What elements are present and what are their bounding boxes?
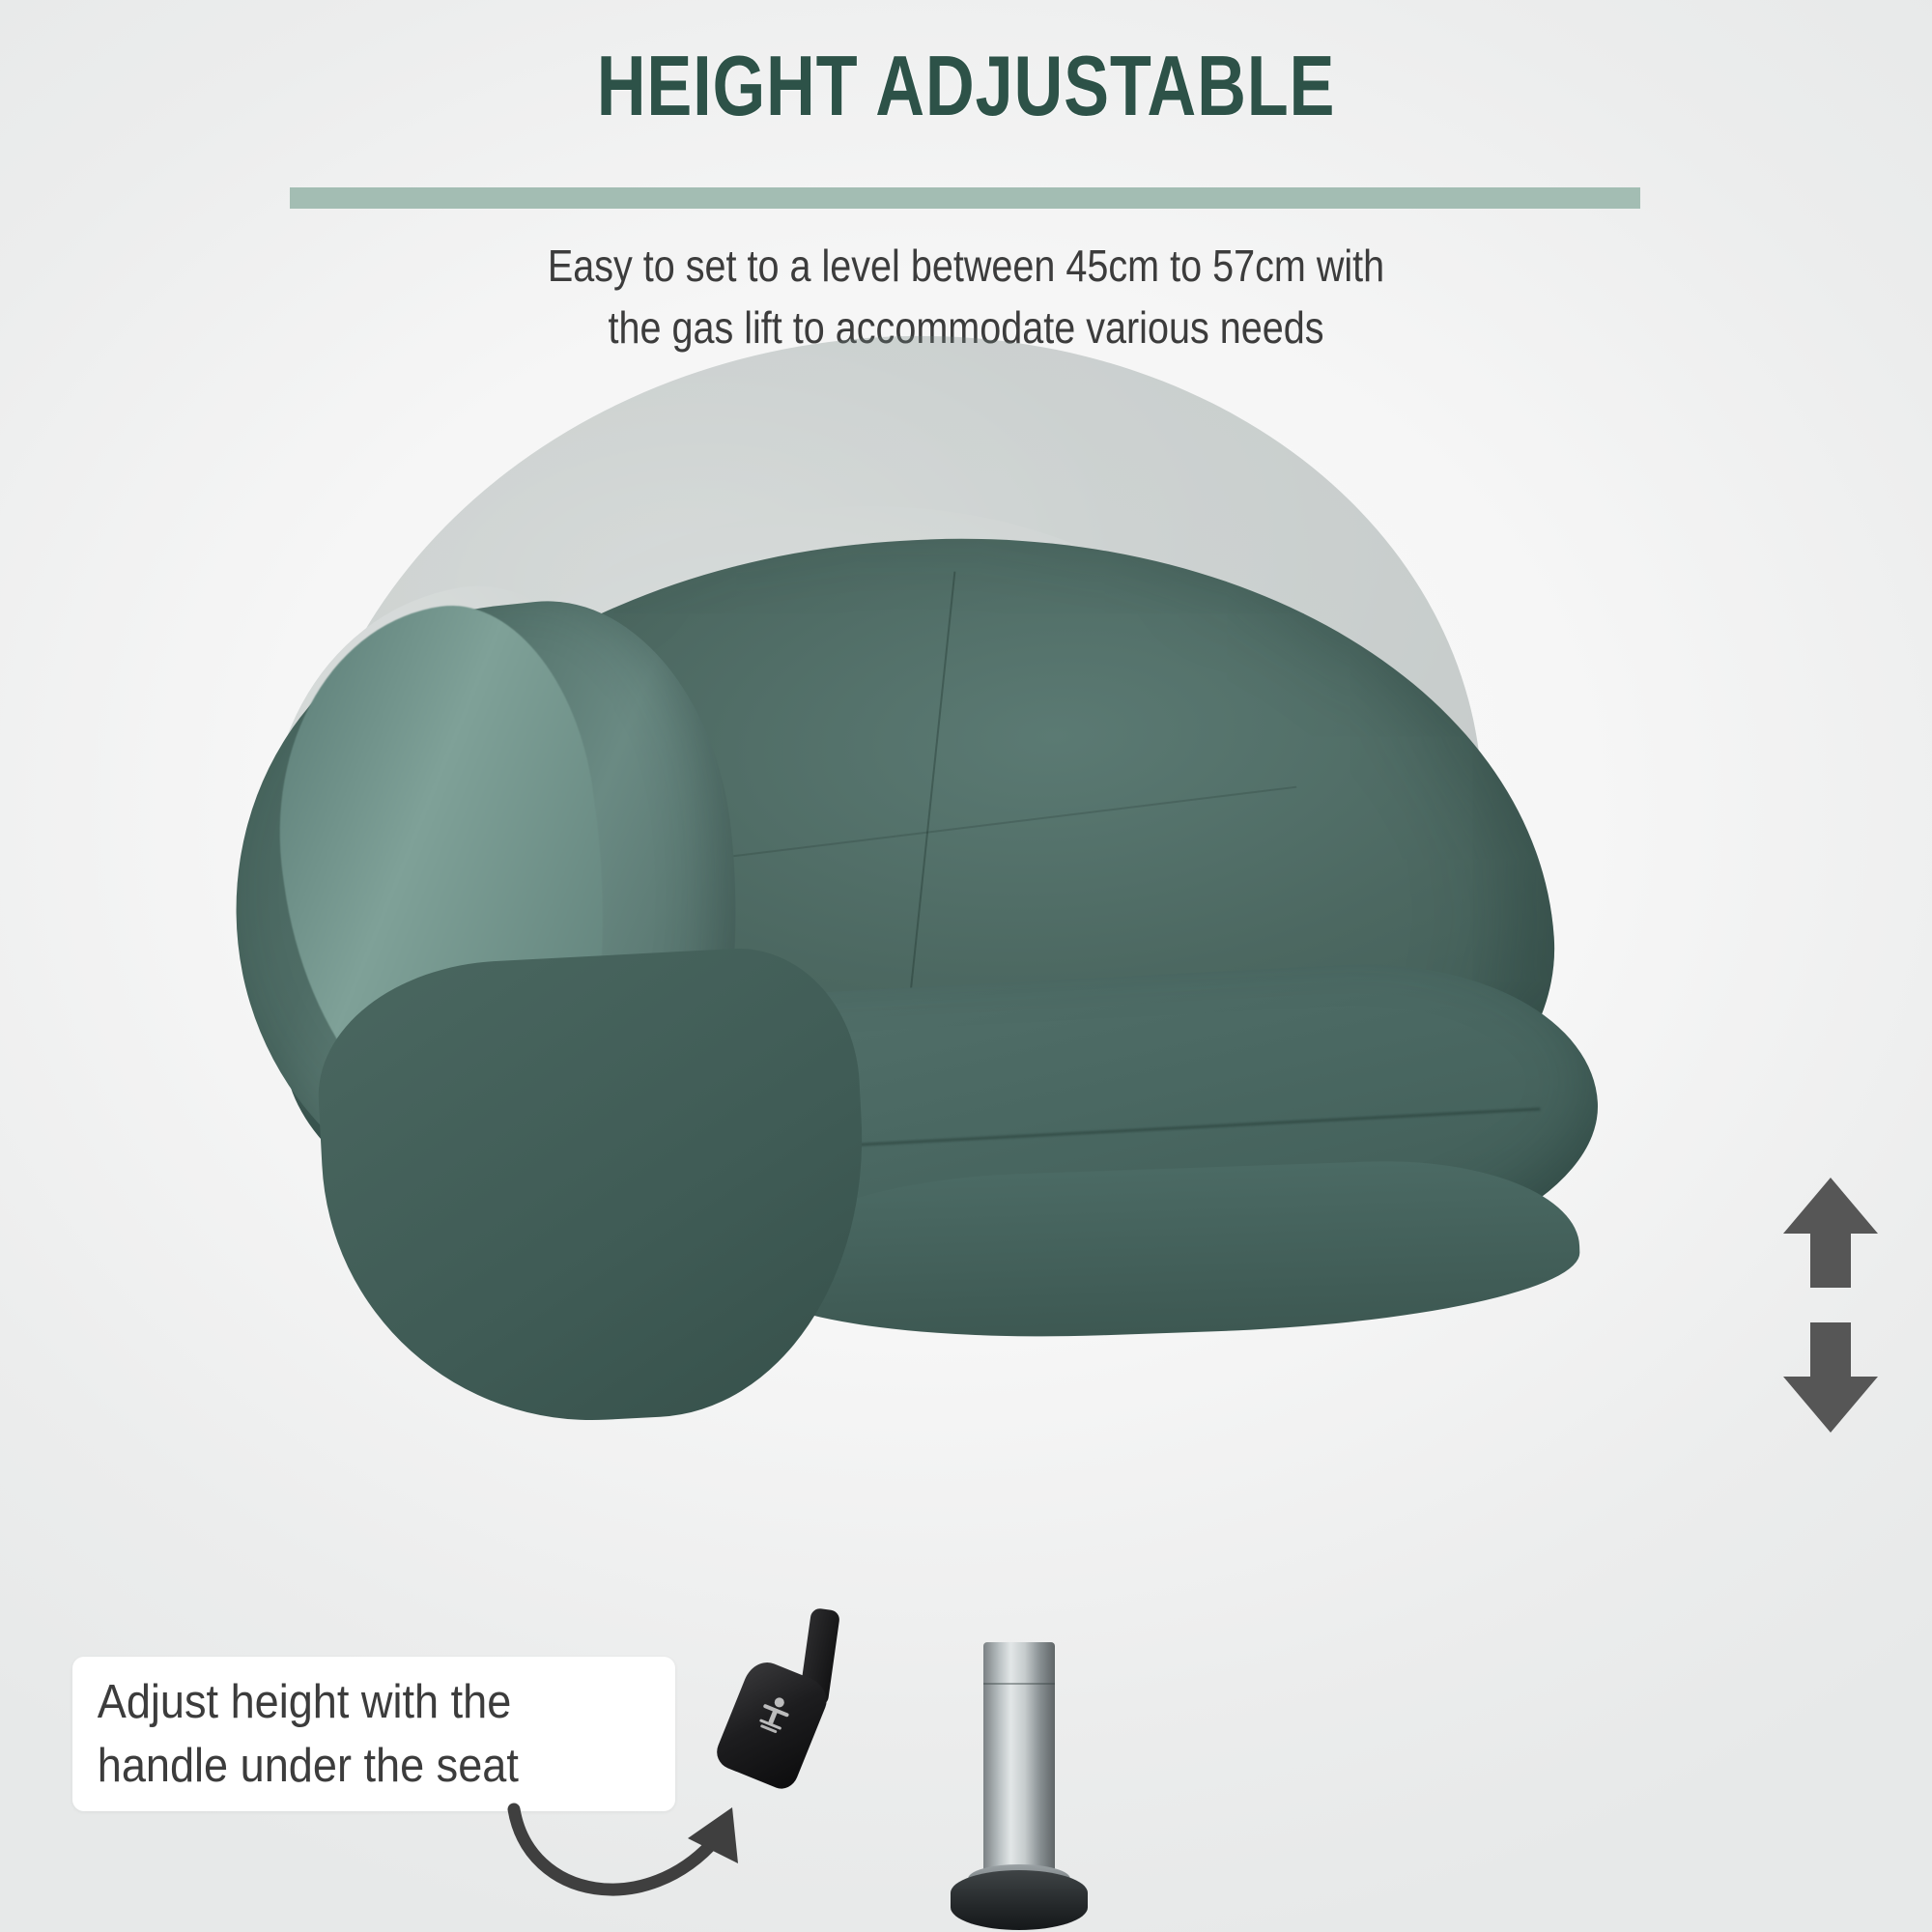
arrow-down-icon — [1777, 1319, 1884, 1435]
base-cap — [951, 1870, 1088, 1930]
gas-lift-seam — [983, 1683, 1055, 1685]
chair-body — [246, 541, 1560, 1314]
handle-callout-box: Adjust height with the handle under the … — [72, 1657, 675, 1811]
height-range-indicator — [1777, 1174, 1884, 1435]
curved-arrow-icon — [502, 1792, 792, 1932]
arrow-up-icon — [1777, 1174, 1884, 1290]
gas-lift-column — [983, 1642, 1055, 1884]
product-photo — [0, 0, 1932, 1932]
product-feature-image: HEIGHT ADJUSTABLE Easy to set to a level… — [0, 0, 1932, 1932]
chair-side-panel — [312, 943, 876, 1435]
callout-line-1: Adjust height with the — [98, 1670, 519, 1734]
callout-line-2: handle under the seat — [98, 1734, 519, 1798]
height-adjust-handle[interactable] — [710, 1631, 846, 1799]
callout-text: Adjust height with the handle under the … — [72, 1670, 544, 1798]
